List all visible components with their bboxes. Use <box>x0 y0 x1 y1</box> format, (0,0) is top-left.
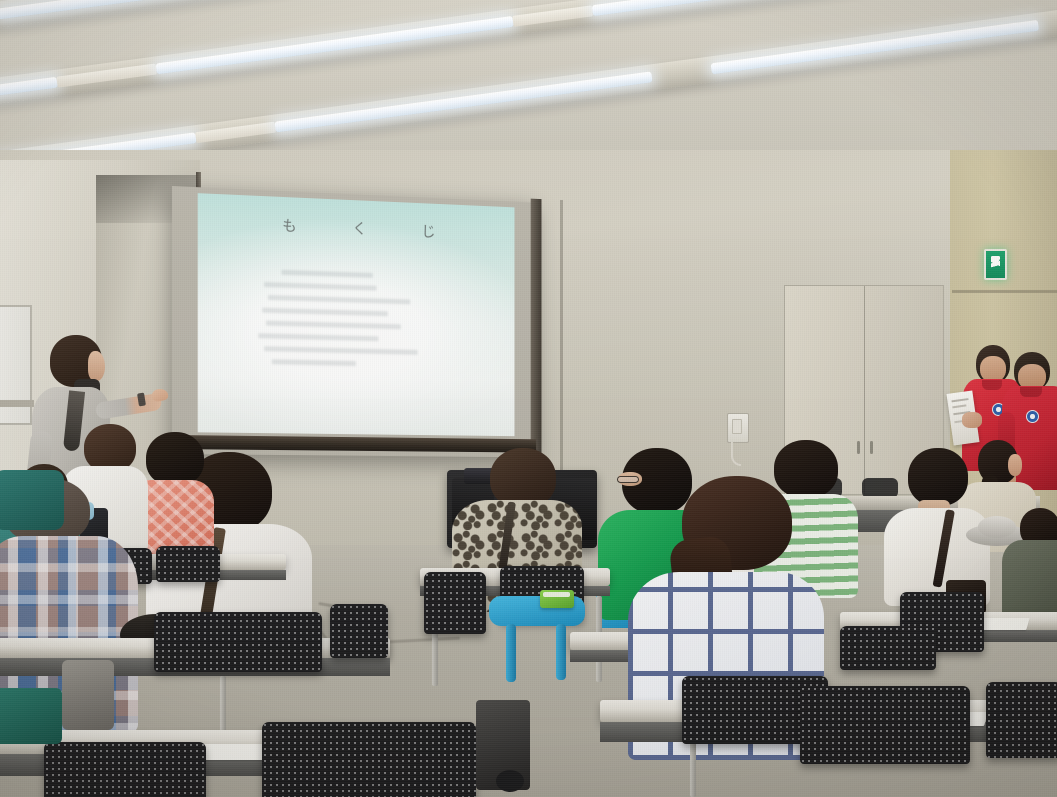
running-man-glyph <box>991 256 1000 273</box>
slide-bullet-block <box>247 269 455 376</box>
fluorescent-tube <box>0 0 385 20</box>
fluorescent-tube <box>592 0 921 16</box>
slide-line <box>266 321 401 330</box>
chair[interactable] <box>424 572 486 634</box>
green-bag[interactable] <box>0 688 62 744</box>
gray-bag[interactable] <box>62 660 114 730</box>
chair-caster <box>496 770 524 792</box>
polo-collar <box>1020 387 1042 397</box>
seminar-room-photo: も く じ <box>0 0 1057 797</box>
attendee-olive-top <box>1012 508 1057 618</box>
projection-screen: も く じ <box>172 186 536 457</box>
fluorescent-tube <box>274 71 652 132</box>
attendee-hair <box>146 432 204 486</box>
presenter-hand <box>151 388 169 402</box>
attendee-hair <box>908 448 968 506</box>
tube-connector <box>512 5 593 26</box>
polo-collar <box>982 380 1002 390</box>
chair[interactable] <box>44 742 206 797</box>
slide-line <box>282 270 373 278</box>
emergency-exit-icon <box>984 249 1007 280</box>
staff-badge <box>1026 410 1039 423</box>
stool-leg <box>506 624 516 682</box>
slide-line <box>264 346 417 355</box>
tube-connector <box>56 64 157 88</box>
ceiling-beam <box>0 0 1057 138</box>
attendee-face <box>1008 454 1022 476</box>
staff-hand-holding-flyer <box>962 412 982 428</box>
screen-side-bevel <box>531 199 542 465</box>
chair[interactable] <box>330 604 388 658</box>
chair[interactable] <box>262 722 476 797</box>
chair[interactable] <box>800 686 970 764</box>
desk-leg <box>220 676 226 736</box>
hat-crown <box>978 516 1016 538</box>
chair[interactable] <box>840 626 936 670</box>
slide-line <box>272 359 356 366</box>
door-handle[interactable] <box>870 441 873 454</box>
presenter-face <box>88 351 105 381</box>
tissue-box-label <box>543 592 570 597</box>
attendee-hair <box>84 424 136 472</box>
tissue-box[interactable] <box>540 590 574 608</box>
attendee-hair <box>490 448 556 508</box>
chair[interactable] <box>986 682 1057 758</box>
wall-intercom[interactable] <box>727 413 749 443</box>
flyer-line <box>952 404 966 408</box>
slide-surface: も く じ <box>198 193 515 436</box>
desk-leg <box>690 742 696 797</box>
teal-item-left <box>0 470 64 530</box>
slide-title: も く じ <box>198 211 515 244</box>
flyer-line <box>951 398 968 402</box>
wall-seam <box>560 200 563 490</box>
chair[interactable] <box>154 612 322 672</box>
tube-connector <box>195 122 276 143</box>
panel-seam <box>952 290 1057 293</box>
slide-line <box>264 282 376 291</box>
fluorescent-tube <box>0 77 58 128</box>
chair[interactable] <box>156 546 220 582</box>
fluorescent-tube <box>156 16 514 75</box>
fluorescent-tube <box>711 20 1040 75</box>
intercom-cord <box>731 442 741 466</box>
slide-line <box>258 333 378 341</box>
slide-line <box>262 308 388 317</box>
stool-leg <box>556 624 566 680</box>
slide-line <box>268 295 410 304</box>
